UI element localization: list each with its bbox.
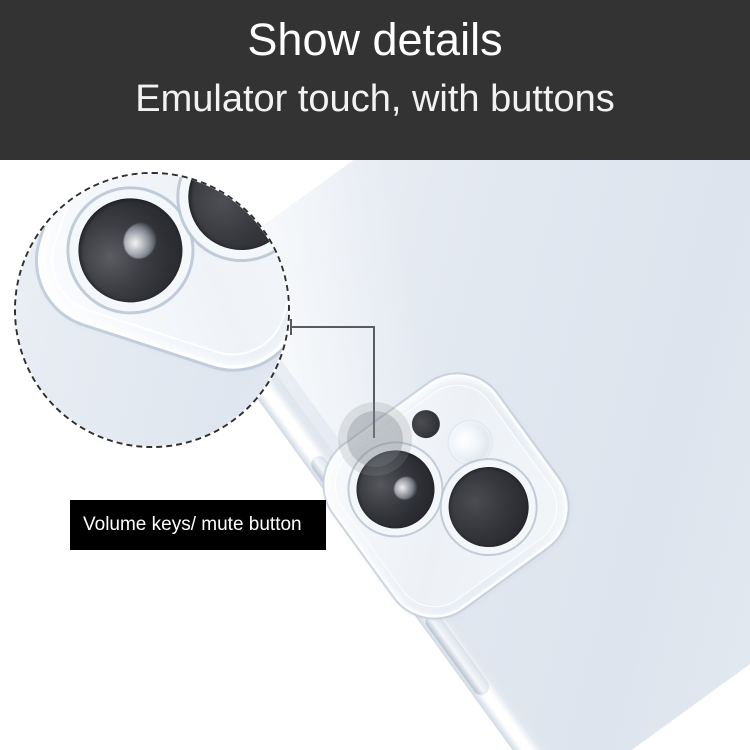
product-photo-stage: Volume keys/ mute button	[0, 160, 750, 750]
page-subtitle: Emulator touch, with buttons	[0, 76, 750, 122]
page-title: Show details	[0, 14, 750, 66]
lens-glint	[389, 472, 421, 504]
touch-indicator-point	[347, 411, 403, 467]
magnified-lens-glint	[119, 219, 161, 263]
magnifier-content	[14, 172, 290, 448]
callout-label-text: Volume keys/ mute button	[70, 514, 302, 536]
leader-line-horizontal	[290, 326, 374, 328]
callout-label: Volume keys/ mute button	[70, 500, 326, 550]
screenshot-root: Show details Emulator touch, with button…	[0, 0, 750, 750]
magnifier-circle	[14, 172, 290, 448]
header-banner: Show details Emulator touch, with button…	[0, 0, 750, 160]
magnified-phone-body	[14, 172, 290, 448]
